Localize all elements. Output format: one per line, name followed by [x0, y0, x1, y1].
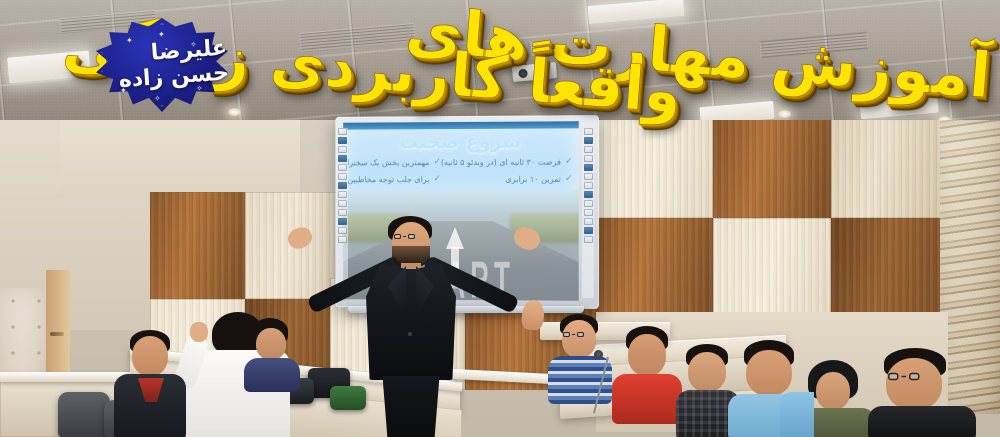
toolbar-button[interactable] — [338, 182, 347, 189]
speaker-jacket-button — [408, 332, 412, 336]
whiteboard-toolbar-right[interactable] — [582, 128, 594, 298]
student-head — [886, 358, 942, 410]
student-head — [256, 328, 286, 360]
badge-name-text: علیرضا حسن زاده — [93, 14, 231, 117]
wood-panel — [596, 218, 713, 318]
toolbar-button[interactable] — [338, 191, 347, 198]
badge-sparkle-icon: ✧ — [196, 84, 203, 93]
wood-panel — [831, 120, 948, 218]
slide-bullet-text: فرصت ۳۰ ثانیه ای (در وبدئو ۵ ثانیه) — [441, 157, 561, 166]
check-icon: ✓ — [565, 174, 573, 184]
badge-sparkle-icon: ✦ — [158, 30, 165, 39]
downlight-2 — [778, 110, 791, 118]
toolbar-button[interactable] — [584, 191, 593, 198]
badge-sparkle-icon: ✧ — [190, 40, 197, 49]
badge-sparkle-icon: ✧ — [154, 94, 161, 103]
speaker-hand-right — [285, 224, 315, 252]
student-blue-sliver — [780, 392, 814, 437]
slide-bullets-left-col: ✓ فرصت ۳۰ ثانیه ای (در وبدئو ۵ ثانیه) ✓ … — [441, 157, 573, 184]
speaker-trousers — [380, 376, 442, 437]
speaker-glasses-icon — [394, 234, 415, 239]
slide-top-band — [343, 121, 579, 129]
seminar-banner-image: شروع صحبت ✓ فرصت ۳۰ ثانیه ای (در وبدئو ۵… — [0, 0, 1000, 437]
wood-panel — [713, 120, 830, 218]
toolbar-button[interactable] — [584, 227, 593, 234]
upper-wall-strip — [60, 120, 300, 198]
student-torso — [612, 374, 682, 424]
slide-bullet: ✓ تمرین ۱۰ برابری — [505, 174, 572, 184]
student-dark-shirt-left — [108, 330, 192, 437]
toolbar-button[interactable] — [584, 182, 593, 189]
student-black-shirt-glasses — [868, 348, 978, 437]
toolbar-button[interactable] — [338, 173, 347, 180]
toolbar-button[interactable] — [338, 164, 347, 171]
slide-bullet: ✓ فرصت ۳۰ ثانیه ای (در وبدئو ۵ ثانیه) — [441, 157, 573, 167]
speaker-presenter — [282, 218, 540, 437]
speaker-hand-left — [511, 224, 543, 253]
wood-panel — [150, 192, 245, 299]
toolbar-button[interactable] — [584, 155, 593, 162]
toolbar-button[interactable] — [584, 146, 593, 153]
toolbar-button[interactable] — [584, 236, 593, 243]
student-head — [562, 320, 596, 358]
slide-bullets: ✓ فرصت ۳۰ ثانیه ای (در وبدئو ۵ ثانیه) ✓ … — [349, 157, 573, 185]
student-red-shirt — [612, 326, 684, 418]
wood-panel — [713, 218, 830, 318]
toolbar-button[interactable] — [338, 200, 347, 207]
slide-bullet-text: تمرین ۱۰ برابری — [505, 174, 560, 183]
door-handle-icon — [50, 332, 64, 336]
slide-bullet-text: مهمترین بخش یک سخنرانی — [343, 158, 429, 167]
badge-sparkle-icon: ✦ — [126, 36, 133, 45]
toolbar-button[interactable] — [584, 128, 593, 135]
student-glasses-icon — [888, 373, 920, 381]
check-icon: ✓ — [433, 174, 441, 184]
student-head — [816, 372, 850, 410]
check-icon: ✓ — [433, 157, 441, 167]
wood-panel — [596, 120, 713, 218]
student-head — [628, 334, 666, 376]
toolbar-button[interactable] — [338, 209, 347, 216]
wood-panel — [831, 218, 948, 318]
toolbar-button[interactable] — [584, 137, 593, 144]
slide-bullets-right-col: ✓ مهمترین بخش یک سخنرانی ✓ برای جلب توجه… — [343, 157, 441, 184]
student-torso — [868, 406, 976, 437]
student-head — [746, 350, 792, 396]
toolbar-button[interactable] — [584, 200, 593, 207]
slide-title: شروع صحبت — [343, 130, 579, 153]
student-torso — [244, 358, 300, 392]
toolbar-button[interactable] — [338, 128, 347, 135]
student-head — [688, 352, 726, 392]
check-icon: ✓ — [565, 157, 573, 167]
downlight-1 — [228, 108, 241, 116]
toolbar-button[interactable] — [584, 218, 593, 225]
toolbar-button[interactable] — [338, 155, 347, 162]
toolbar-button[interactable] — [584, 209, 593, 216]
student-hand-left — [190, 322, 208, 342]
microphone-head-icon — [594, 350, 603, 359]
student-glasses-icon — [563, 332, 584, 337]
wood-wall-right — [596, 120, 948, 318]
student-behind-left — [244, 318, 304, 388]
toolbar-button[interactable] — [338, 146, 347, 153]
slide-bullet-text: برای جلب توجه مخاطبین — [347, 175, 429, 184]
toolbar-button[interactable] — [584, 173, 593, 180]
speaker-suit-jacket — [366, 264, 456, 380]
chair-left-1 — [58, 392, 110, 437]
toolbar-button[interactable] — [584, 164, 593, 171]
slide-bullet: ✓ مهمترین بخش یک سخنرانی — [343, 157, 441, 167]
slide-bullet: ✓ برای جلب توجه مخاطبین — [347, 174, 440, 184]
ceiling-projector — [511, 50, 557, 84]
student-head — [132, 336, 168, 376]
toolbar-button[interactable] — [338, 137, 347, 144]
presenter-name-badge: علیرضا حسن زاده ✦ ✧ ✦ ✧ ✦ ✧ — [96, 18, 228, 112]
badge-sparkle-icon: ✦ — [120, 86, 127, 95]
